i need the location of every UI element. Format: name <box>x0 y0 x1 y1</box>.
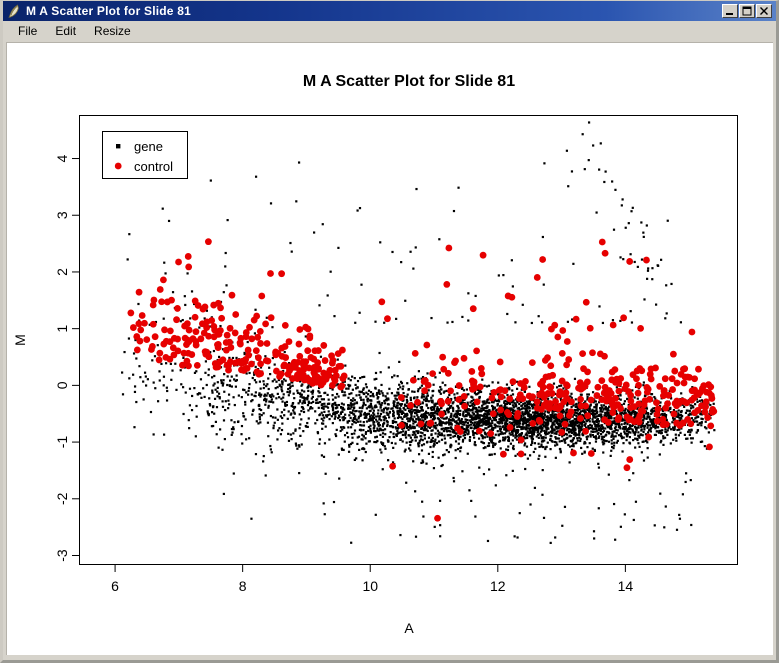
data-point <box>182 413 184 415</box>
data-point <box>312 401 314 403</box>
data-point <box>625 408 627 410</box>
data-point <box>524 402 526 404</box>
data-point <box>433 417 435 419</box>
data-point <box>458 443 460 445</box>
data-point <box>223 391 225 393</box>
data-point <box>397 388 399 390</box>
data-point <box>165 362 167 364</box>
data-point <box>453 480 455 482</box>
data-point <box>254 309 256 311</box>
data-point <box>237 339 244 346</box>
data-point <box>370 417 372 419</box>
data-point <box>288 440 290 442</box>
data-point <box>358 449 360 451</box>
data-point <box>530 417 532 419</box>
data-point <box>422 461 424 463</box>
data-point <box>708 392 715 399</box>
data-point <box>218 356 220 358</box>
data-point <box>529 435 531 437</box>
data-point <box>228 394 230 396</box>
feather-icon <box>6 3 22 19</box>
data-point <box>363 424 365 426</box>
data-point <box>278 427 280 429</box>
data-point <box>242 412 244 414</box>
data-point <box>300 385 302 387</box>
data-point <box>512 430 514 432</box>
data-point <box>620 399 622 401</box>
data-point <box>543 413 545 415</box>
menu-file[interactable]: File <box>9 22 46 41</box>
data-point <box>610 455 612 457</box>
data-point <box>512 404 514 406</box>
data-point <box>436 406 438 408</box>
data-point <box>612 438 614 440</box>
data-point <box>393 436 395 438</box>
data-point <box>622 258 624 260</box>
data-point <box>697 429 699 431</box>
data-point <box>659 493 661 495</box>
data-point <box>217 381 219 383</box>
data-point <box>586 436 588 438</box>
data-point <box>590 435 592 437</box>
data-point <box>307 409 309 411</box>
data-point <box>439 354 446 361</box>
minimize-button[interactable] <box>722 4 738 18</box>
data-point <box>470 414 472 416</box>
data-point <box>542 425 544 427</box>
data-point <box>208 414 210 416</box>
data-point <box>555 438 557 440</box>
data-point <box>333 501 335 503</box>
data-point <box>404 449 406 451</box>
data-point <box>379 241 381 243</box>
data-point <box>369 395 371 397</box>
data-point <box>123 351 125 353</box>
data-point <box>378 298 385 305</box>
data-point <box>592 431 594 433</box>
data-point <box>337 363 344 370</box>
data-point <box>213 375 215 377</box>
data-point <box>624 400 626 402</box>
data-point <box>166 387 168 389</box>
data-point <box>356 402 358 404</box>
data-point <box>344 414 346 416</box>
data-point <box>269 373 271 375</box>
data-point <box>418 442 420 444</box>
data-point <box>606 412 608 414</box>
data-point <box>601 353 608 360</box>
data-point <box>355 394 357 396</box>
data-point <box>198 392 200 394</box>
y-tick-label: -1 <box>54 436 70 449</box>
data-point <box>533 432 535 434</box>
data-point <box>367 430 369 432</box>
data-point <box>189 404 191 406</box>
data-point <box>193 328 200 335</box>
data-point <box>296 326 303 333</box>
data-point <box>562 418 564 420</box>
data-point <box>228 403 230 405</box>
data-point <box>202 351 209 358</box>
data-point <box>273 379 275 381</box>
data-point <box>232 396 234 398</box>
data-point <box>406 396 408 398</box>
data-point <box>374 436 376 438</box>
data-point <box>437 430 439 432</box>
data-point <box>412 460 414 462</box>
data-point <box>474 421 476 423</box>
data-point <box>571 432 573 434</box>
data-point <box>239 358 246 365</box>
data-point <box>646 427 648 429</box>
data-point <box>175 259 182 266</box>
data-point <box>325 473 327 475</box>
data-point <box>587 325 594 332</box>
data-point <box>634 434 636 436</box>
data-point <box>223 493 225 495</box>
data-point <box>434 425 436 427</box>
data-point <box>360 284 362 286</box>
data-point <box>359 377 361 379</box>
data-point <box>551 322 558 329</box>
data-point <box>461 470 463 472</box>
data-point <box>365 392 367 394</box>
data-point <box>655 425 657 427</box>
data-point <box>245 352 252 359</box>
data-point <box>359 420 361 422</box>
data-point <box>383 422 385 424</box>
data-point <box>685 412 687 414</box>
data-point <box>515 435 517 437</box>
data-point <box>416 409 418 411</box>
data-point <box>624 513 626 515</box>
data-point <box>600 414 602 416</box>
data-point <box>291 438 293 440</box>
data-point <box>481 435 483 437</box>
data-point <box>338 454 340 456</box>
data-point <box>695 366 702 373</box>
data-point <box>281 361 288 368</box>
data-point <box>370 410 372 412</box>
menu-resize[interactable]: Resize <box>85 22 140 41</box>
data-point <box>603 430 605 432</box>
data-point <box>623 423 625 425</box>
data-point <box>493 401 495 403</box>
data-point <box>260 409 262 411</box>
data-point <box>421 432 423 434</box>
data-point <box>503 417 505 419</box>
data-point <box>197 335 204 342</box>
data-point <box>602 250 609 257</box>
data-point <box>170 363 172 365</box>
data-point <box>525 412 527 414</box>
data-point <box>350 392 352 394</box>
data-point <box>605 434 607 436</box>
data-point <box>478 410 480 412</box>
data-point <box>430 317 432 319</box>
data-point <box>211 327 218 334</box>
data-point <box>568 398 575 405</box>
data-point <box>443 418 445 420</box>
data-point <box>422 515 424 517</box>
data-point <box>244 403 246 405</box>
data-point <box>386 392 388 394</box>
data-point <box>498 393 505 400</box>
data-point <box>325 425 327 427</box>
menu-edit[interactable]: Edit <box>46 22 85 41</box>
data-point <box>253 313 260 320</box>
data-point <box>508 440 510 442</box>
data-point <box>368 418 370 420</box>
data-point <box>598 377 605 384</box>
data-point <box>547 400 554 407</box>
data-point <box>433 412 435 414</box>
data-point <box>622 442 624 444</box>
data-point <box>312 374 319 381</box>
maximize-button[interactable] <box>739 4 755 18</box>
data-point <box>525 434 527 436</box>
data-point <box>620 314 627 321</box>
data-point <box>306 398 308 400</box>
data-point <box>253 347 260 354</box>
data-point <box>392 410 394 412</box>
data-point <box>211 333 218 340</box>
data-point <box>413 416 415 418</box>
data-point <box>280 398 282 400</box>
data-point <box>213 413 215 415</box>
data-point <box>354 410 356 412</box>
data-point <box>322 414 324 416</box>
data-point <box>523 444 525 446</box>
data-point <box>501 420 503 422</box>
data-point <box>660 259 662 261</box>
data-point <box>348 444 350 446</box>
data-point <box>631 321 633 323</box>
data-point <box>495 419 497 421</box>
data-point <box>603 436 605 438</box>
data-point <box>523 427 525 429</box>
data-point <box>332 409 334 411</box>
data-point <box>474 515 476 517</box>
data-point <box>677 412 679 414</box>
data-point <box>582 383 589 390</box>
data-point <box>259 421 261 423</box>
close-button[interactable] <box>756 4 772 18</box>
data-point <box>380 413 382 415</box>
data-point <box>320 342 327 349</box>
data-point <box>528 432 530 434</box>
data-point <box>582 428 589 435</box>
data-point <box>378 425 380 427</box>
data-point <box>295 443 297 445</box>
data-point <box>168 297 175 304</box>
data-point <box>543 430 545 432</box>
data-point <box>284 404 286 406</box>
data-point <box>552 441 554 443</box>
data-point <box>406 402 408 404</box>
data-point <box>633 519 635 521</box>
data-point <box>480 407 482 409</box>
data-point <box>242 415 244 417</box>
data-point <box>218 393 220 395</box>
data-point <box>264 394 266 396</box>
data-point <box>283 393 285 395</box>
data-point <box>501 426 503 428</box>
data-point <box>365 433 367 435</box>
data-point <box>651 393 653 395</box>
data-point <box>291 251 293 253</box>
data-point <box>488 385 490 387</box>
data-point <box>566 150 568 152</box>
data-point <box>215 300 222 307</box>
data-point <box>594 410 596 412</box>
data-point <box>436 409 438 411</box>
data-point <box>543 517 545 519</box>
data-point <box>647 424 649 426</box>
data-point <box>666 434 668 436</box>
data-point <box>302 407 304 409</box>
data-point <box>292 409 294 411</box>
data-point <box>608 441 610 443</box>
data-point <box>405 482 407 484</box>
data-point <box>395 406 397 408</box>
data-point <box>651 411 653 413</box>
data-point <box>222 379 224 381</box>
data-point <box>277 419 279 421</box>
data-point <box>579 440 581 442</box>
data-point <box>323 403 325 405</box>
data-point <box>511 259 513 261</box>
data-point <box>509 407 511 409</box>
data-point <box>639 446 641 448</box>
data-point <box>704 445 706 447</box>
data-point <box>636 439 638 441</box>
data-point <box>363 376 365 378</box>
data-point <box>381 409 383 411</box>
data-point <box>670 351 677 358</box>
data-point <box>433 384 435 386</box>
data-point <box>521 404 523 406</box>
data-point <box>308 402 310 404</box>
data-point <box>270 401 272 403</box>
data-point <box>130 324 137 331</box>
data-point <box>418 453 420 455</box>
data-point <box>231 428 233 430</box>
data-point <box>565 356 572 363</box>
data-point <box>182 357 184 359</box>
data-point <box>432 451 434 453</box>
data-point <box>219 325 221 327</box>
data-point <box>518 451 525 458</box>
data-point <box>659 416 666 423</box>
data-point <box>603 414 605 416</box>
data-point <box>122 393 124 395</box>
data-point <box>135 401 137 403</box>
data-point <box>512 285 514 287</box>
data-point <box>641 451 643 453</box>
data-point <box>538 433 540 435</box>
data-point <box>555 433 557 435</box>
data-point <box>597 463 599 465</box>
data-point <box>479 396 481 398</box>
data-point <box>263 383 265 385</box>
data-point <box>334 396 336 398</box>
data-point <box>321 403 323 405</box>
data-point <box>407 426 409 428</box>
data-point <box>289 386 291 388</box>
data-point <box>513 406 515 408</box>
data-point <box>615 388 622 395</box>
data-point <box>322 372 329 379</box>
data-point <box>415 188 417 190</box>
data-point <box>626 423 628 425</box>
data-point <box>430 399 432 401</box>
data-point <box>633 375 640 382</box>
data-point <box>412 350 419 357</box>
data-point <box>532 407 534 409</box>
data-point <box>532 411 534 413</box>
data-point <box>229 292 236 299</box>
data-point <box>188 419 190 421</box>
data-point <box>439 386 441 388</box>
data-point <box>632 439 634 441</box>
data-point <box>450 437 452 439</box>
data-point <box>595 440 597 442</box>
data-point <box>275 387 277 389</box>
data-point <box>443 281 450 288</box>
data-point <box>438 409 440 411</box>
data-point <box>455 420 457 422</box>
data-point <box>641 258 643 260</box>
data-point <box>255 381 257 383</box>
data-point <box>572 420 574 422</box>
data-point <box>188 351 195 358</box>
data-point <box>428 414 430 416</box>
data-point <box>266 317 268 319</box>
data-point <box>423 429 425 431</box>
data-point <box>569 461 571 463</box>
data-point <box>438 457 440 459</box>
data-point <box>488 422 490 424</box>
data-point <box>321 418 323 420</box>
data-point <box>347 397 349 399</box>
data-point <box>378 401 380 403</box>
data-point <box>281 422 283 424</box>
data-point <box>318 407 320 409</box>
data-point <box>429 441 431 443</box>
data-point <box>600 404 602 406</box>
menu-bar: File Edit Resize <box>3 21 776 42</box>
data-point <box>566 408 568 410</box>
data-point <box>192 314 199 321</box>
data-point <box>557 412 564 419</box>
data-point <box>382 432 384 434</box>
data-point <box>163 318 165 320</box>
data-point <box>494 406 496 408</box>
data-point <box>389 425 391 427</box>
data-point <box>507 424 514 431</box>
data-point <box>557 404 564 411</box>
data-point <box>384 402 386 404</box>
data-point <box>173 316 180 323</box>
data-point <box>467 422 469 424</box>
data-point <box>598 429 600 431</box>
data-point <box>433 426 435 428</box>
data-point <box>365 443 367 445</box>
data-point <box>400 438 402 440</box>
data-point <box>560 450 562 452</box>
data-point <box>706 444 713 451</box>
